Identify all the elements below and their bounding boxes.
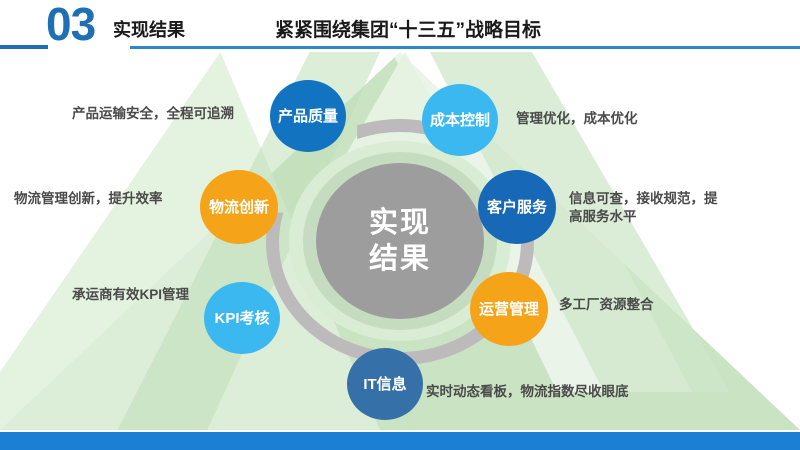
page-subtitle: 紧紧围绕集团“十三五”战略目标 [275,15,541,42]
footer-bar [0,432,800,450]
hub-label-line2: 结果 [369,241,431,277]
node-caption-operations-management: 多工厂资源整合 [559,296,709,314]
header-rule-left [0,45,48,49]
node-caption-logistics-innovation: 物流管理创新，提升效率 [14,190,204,208]
node-bubble-label: 成本控制 [430,113,490,128]
node-bubble-label: 运营管理 [479,302,539,317]
node-bubble-logistics-innovation[interactable]: 物流创新 [200,170,278,244]
node-bubble-operations-management[interactable]: 运营管理 [470,272,548,346]
node-caption-kpi-assessment: 承运商有效KPI管理 [72,286,222,304]
node-bubble-customer-service[interactable]: 客户服务 [478,170,556,244]
node-caption-product-quality: 产品运输安全，全程可追溯 [72,105,287,123]
hub-center-circle: 实现 结果 [316,163,484,319]
page-title: 实现结果 [113,16,185,42]
header-rule-right [130,46,800,49]
node-bubble-label: 物流创新 [209,200,269,215]
section-number: 03 [46,0,95,50]
node-caption-it-information: 实时动态看板，物流指数尽收眼底 [426,383,686,401]
node-bubble-label: IT信息 [363,377,406,392]
slide-header: 03 实现结果 紧紧围绕集团“十三五”战略目标 [0,0,800,52]
node-bubble-label: KPI考核 [214,311,269,326]
slide-canvas: 实现 结果 产品质量产品运输安全，全程可追溯成本控制管理优化，成本优化物流创新物… [0,0,800,450]
node-bubble-label: 客户服务 [487,200,547,215]
node-caption-cost-control: 管理优化，成本优化 [516,110,686,128]
hub-label-line1: 实现 [369,205,431,241]
node-bubble-it-information[interactable]: IT信息 [347,348,423,420]
node-caption-customer-service: 信息可查，接收规范，提 高服务水平 [569,190,769,226]
node-bubble-cost-control[interactable]: 成本控制 [422,84,498,156]
